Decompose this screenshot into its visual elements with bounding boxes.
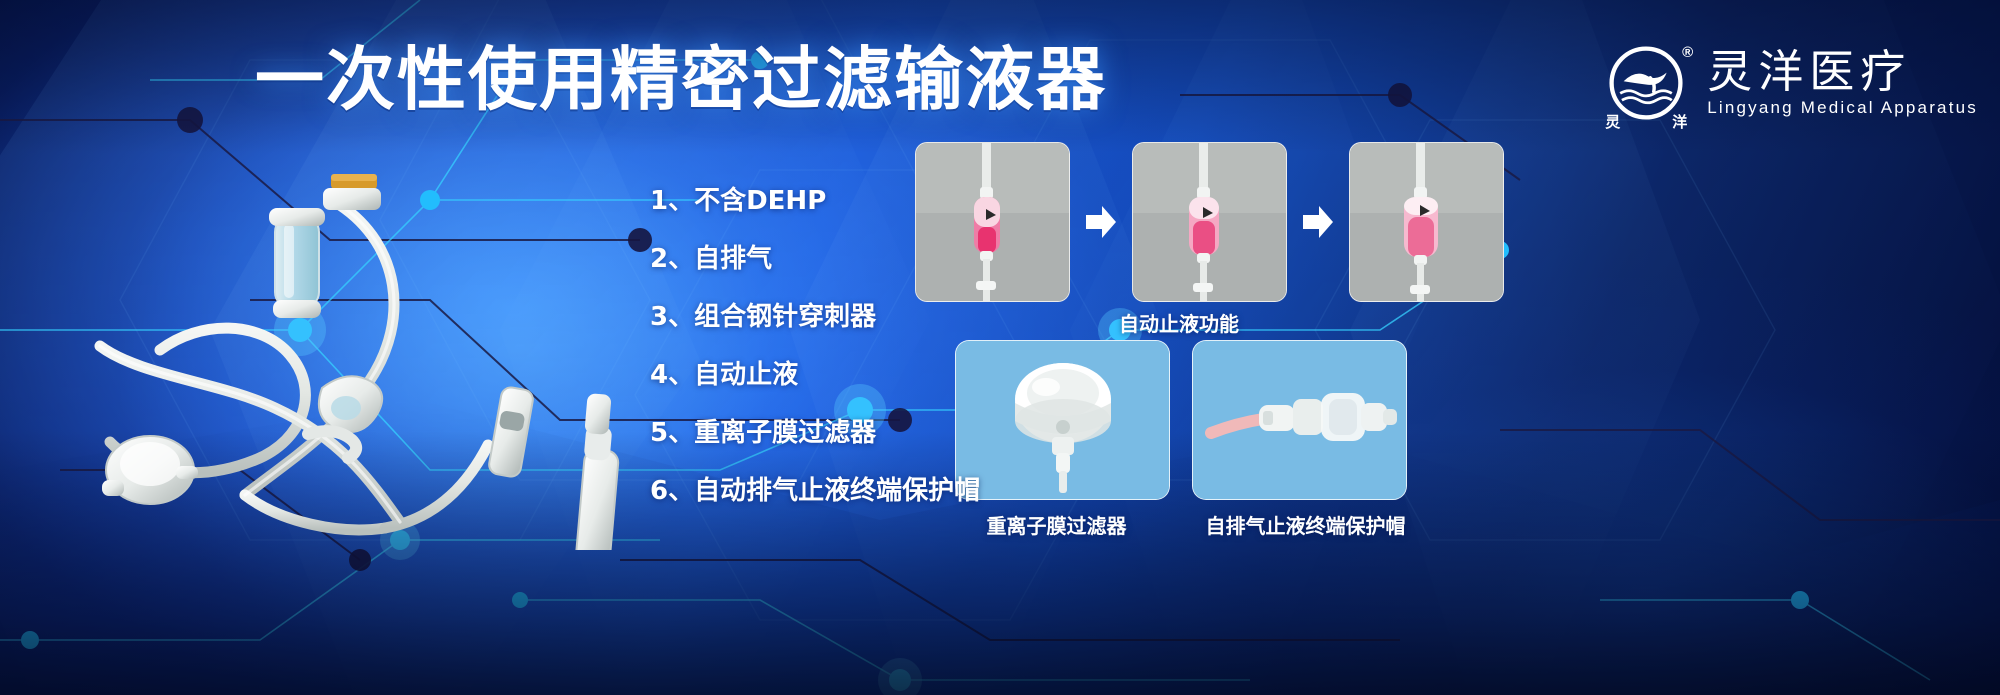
logo-char-left: 灵 — [1605, 111, 1620, 132]
brand-name-en: Lingyang Medical Apparatus — [1707, 98, 1978, 118]
bottom-gallery-captions: 重离子膜过滤器 自排气止液终端保护帽 — [955, 510, 1407, 539]
brand-logo-block: ® 灵 洋 灵洋医疗 Lingyang Medical Apparatus — [1603, 40, 1978, 126]
drip-chamber — [269, 208, 325, 318]
gallery-photo-self-venting-terminal-cap[interactable] — [1192, 340, 1407, 500]
feature-item-5: 5、重离子膜过滤器 — [650, 404, 980, 462]
flow-regulator — [308, 376, 382, 458]
feature-item-6: 6、自动排气止液终端保护帽 — [650, 462, 980, 520]
gallery-photo-heavy-ion-membrane-filter[interactable] — [955, 340, 1170, 500]
registered-mark: ® — [1682, 44, 1693, 61]
brand-name-cn: 灵洋医疗 — [1707, 48, 1978, 95]
caption-auto-stop-function: 自动止液功能 — [915, 308, 1443, 337]
feature-item-4: 4、自动止液 — [650, 346, 980, 404]
bottom-gallery — [955, 340, 1407, 500]
right-arrow-icon — [1084, 202, 1118, 242]
feature-item-2: 2、自排气 — [650, 230, 980, 288]
brand-text: 灵洋医疗 Lingyang Medical Apparatus — [1707, 48, 1978, 117]
feature-list: 1、不含DEHP 2、自排气 3、组合钢针穿刺器 4、自动止液 5、重离子膜过滤… — [650, 172, 980, 520]
feature-item-1: 1、不含DEHP — [650, 172, 980, 230]
terminal-filter-cluster — [575, 393, 619, 550]
precision-filter-infusion-set-photo — [40, 150, 680, 550]
caption-heavy-ion-membrane-filter: 重离子膜过滤器 — [949, 510, 1164, 539]
gallery-photo-auto-stop-step-3[interactable] — [1349, 142, 1504, 302]
roller-clamp — [488, 386, 535, 478]
gallery-photo-auto-stop-step-2[interactable] — [1132, 142, 1287, 302]
wave-mountain-circle-logo-icon: ® 灵 洋 — [1603, 40, 1689, 126]
caption-self-venting-terminal-cap: 自排气止液终端保护帽 — [1198, 510, 1413, 539]
logo-char-right: 洋 — [1672, 111, 1687, 132]
logo-chinese-chars: 灵 洋 — [1603, 111, 1689, 132]
feature-item-3: 3、组合钢针穿刺器 — [650, 288, 980, 346]
product-banner: 一次性使用精密过滤输液器 ® 灵 洋 灵洋医疗 Lingyang Medical… — [0, 0, 2000, 695]
auto-stop-sequence-gallery — [915, 142, 1504, 302]
spike-cap — [323, 174, 381, 210]
page-title: 一次性使用精密过滤输液器 — [255, 46, 1107, 115]
right-arrow-icon-2 — [1301, 202, 1335, 242]
